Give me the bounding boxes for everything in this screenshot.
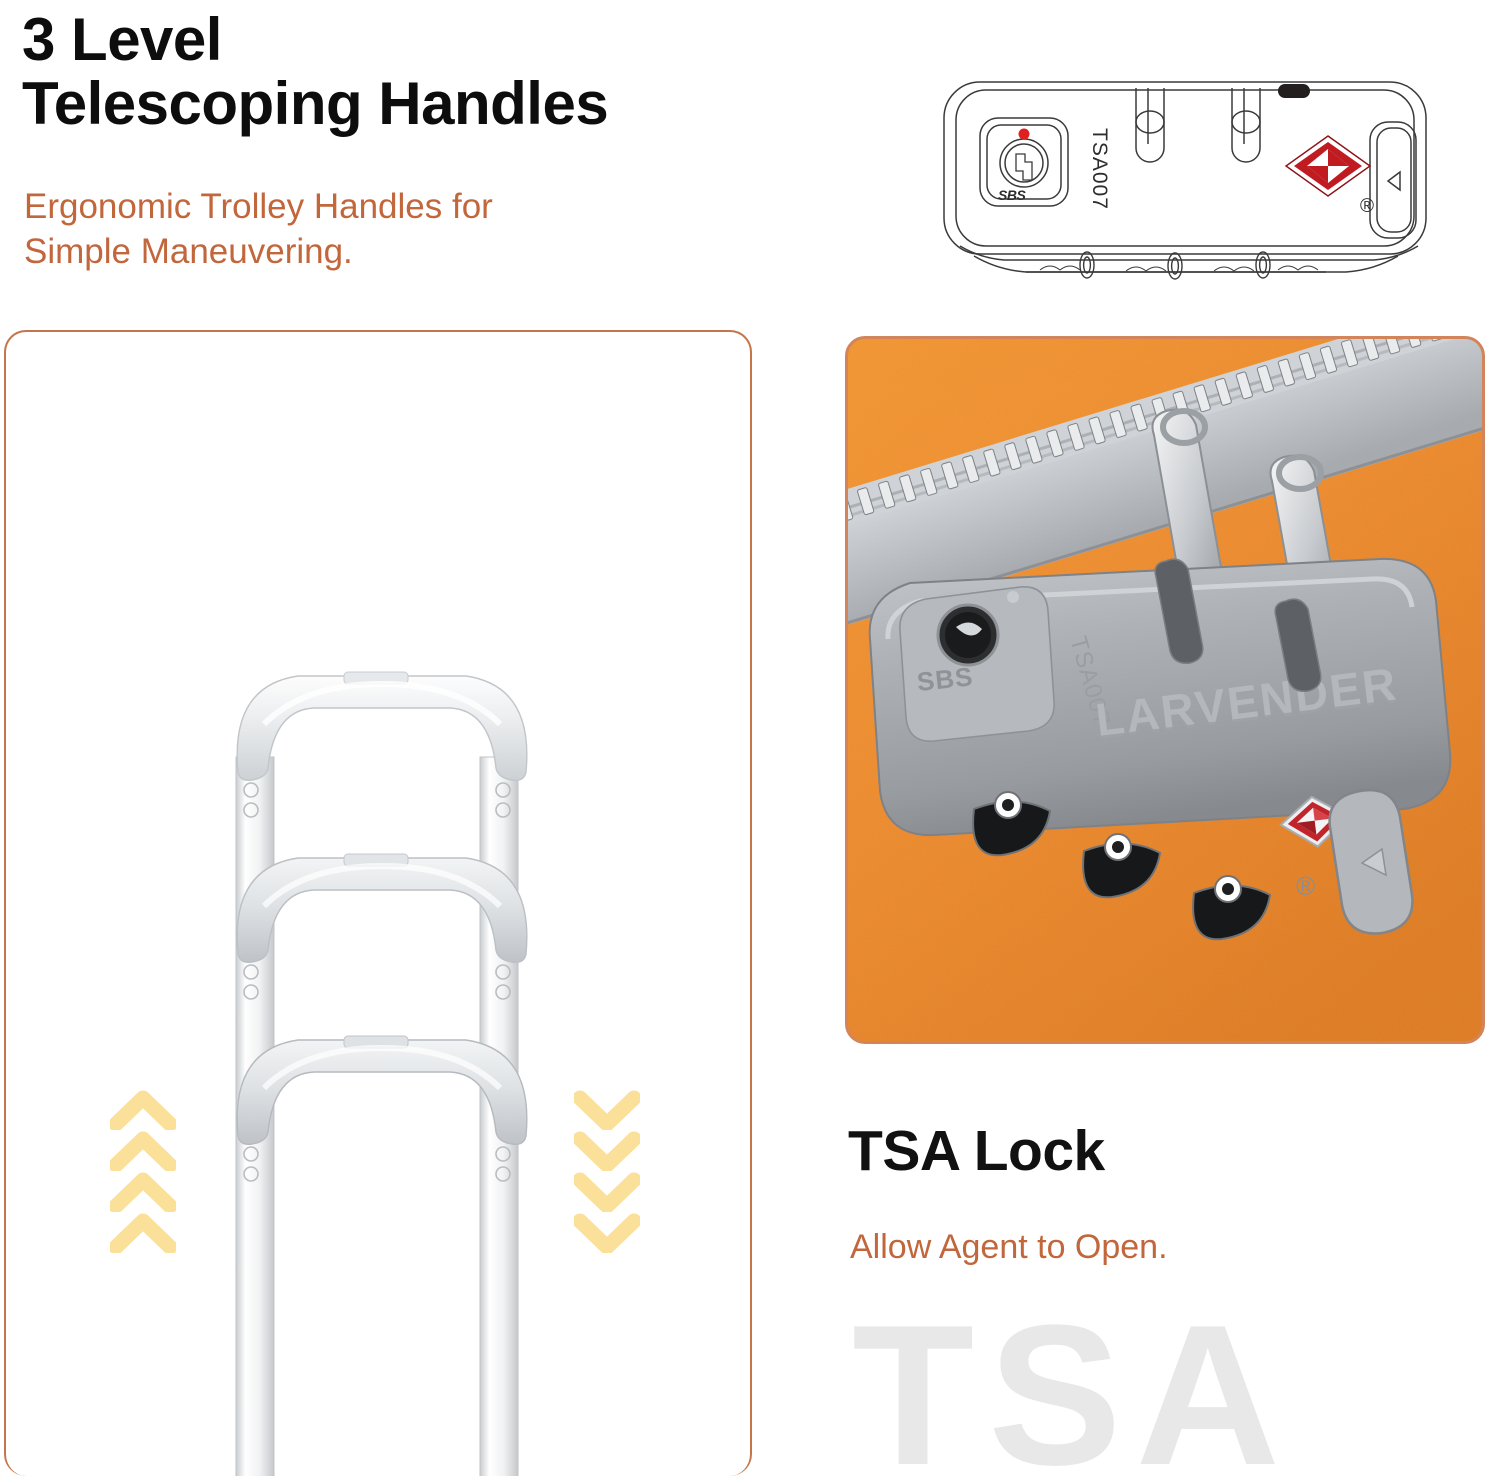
- subtitle-line-2: Simple Maneuvering.: [24, 230, 684, 275]
- handles-panel: [4, 330, 752, 1476]
- chevron-down-icon: [574, 1172, 640, 1212]
- telescoping-handle-illustration: [6, 662, 752, 1476]
- infographic-page: 3 Level Telescoping Handles Ergonomic Tr…: [0, 0, 1500, 1476]
- chevron-down-icon: [574, 1090, 640, 1130]
- lock-brand-mark: SBS: [998, 187, 1026, 203]
- chevron-up-icon: [110, 1131, 176, 1171]
- headline-line-2: Telescoping Handles: [22, 72, 822, 136]
- chevron-down-group: [574, 1090, 652, 1254]
- page-title: 3 Level Telescoping Handles: [22, 8, 822, 136]
- lock-registered-mark-photo: ®: [1296, 871, 1315, 901]
- tsa-watermark: TSA: [852, 1296, 1294, 1476]
- lock-keyhole-mark: SBS: [915, 661, 974, 697]
- chevron-up-icon: [110, 1090, 176, 1130]
- tsa-lock-photo: LARVENDER LARVENDER SBS TSA007: [845, 336, 1485, 1044]
- tsa-logo-icon: [1286, 136, 1370, 196]
- page-subtitle: Ergonomic Trolley Handles for Simple Man…: [24, 185, 684, 275]
- chevron-down-icon: [574, 1131, 640, 1171]
- lock-indicator-dot: [1019, 129, 1030, 140]
- chevron-up-icon: [110, 1172, 176, 1212]
- subtitle-line-1: Ergonomic Trolley Handles for: [24, 185, 684, 230]
- lock-registered-mark: ®: [1360, 196, 1374, 217]
- tsa-section-title: TSA Lock: [848, 1118, 1105, 1184]
- lock-tab-marker: [1278, 84, 1310, 98]
- chevron-up-group: [110, 1090, 188, 1254]
- headline-line-1: 3 Level: [22, 6, 222, 73]
- tsa-lock-line-drawing: TSA007 SBS ®: [930, 60, 1440, 300]
- chevron-up-icon: [110, 1213, 176, 1253]
- release-arrow-icon: [1388, 172, 1400, 190]
- chevron-down-icon: [574, 1213, 640, 1253]
- tsa-section-subtitle: Allow Agent to Open.: [850, 1228, 1168, 1267]
- lock-model-text: TSA007: [1088, 128, 1111, 210]
